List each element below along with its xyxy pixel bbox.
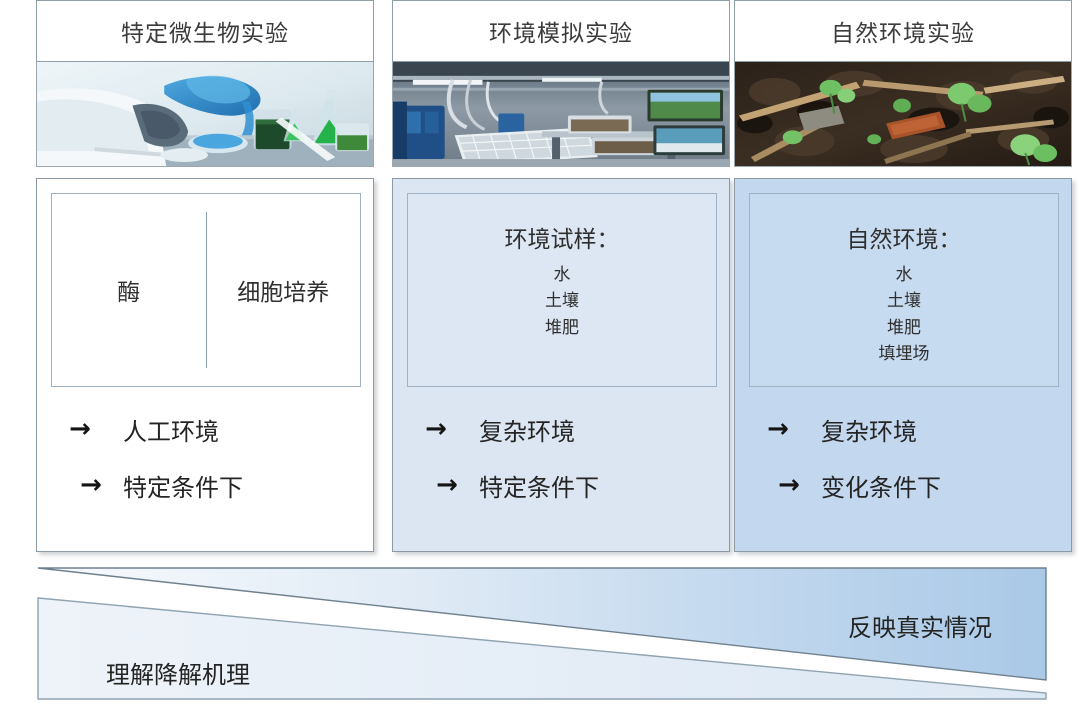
column-header-box: 特定微生物实验 [36, 0, 374, 62]
arrow-label: 变化条件下 [821, 468, 941, 503]
column-title: 特定微生物实验 [121, 14, 289, 48]
arrow-right-icon: → [393, 470, 479, 500]
slide-canvas: 特定微生物实验 [0, 0, 1080, 709]
banner-left-label: 理解降解机理 [106, 655, 250, 690]
arrow-right-icon: → [37, 470, 123, 500]
sample-list-item: 堆肥 [408, 315, 716, 341]
arrow-row: → 人工环境 [37, 401, 373, 457]
arrow-label: 复杂环境 [479, 412, 575, 447]
panel-natural-environment: 自然环境： 水 土壤 堆肥 填埋场 → 复杂环境 → 变化条件下 [734, 178, 1072, 552]
column-header-box: 环境模拟实验 [392, 0, 730, 62]
column-environment-simulation: 环境模拟实验 [392, 0, 730, 167]
sample-list-item: 水 [750, 262, 1058, 288]
arrow-label: 复杂环境 [821, 412, 917, 447]
column-specific-microbial: 特定微生物实验 [36, 0, 374, 167]
panel-specific-microbial: 酶 细胞培养 → 人工环境 → 特定条件下 [36, 178, 374, 552]
column-header-box: 自然环境实验 [734, 0, 1072, 62]
gradient-banner: 反映真实情况 理解降解机理 [36, 562, 1048, 702]
inner-box-environment-samples: 环境试样： 水 土壤 堆肥 [407, 193, 717, 387]
arrow-label: 特定条件下 [479, 468, 599, 503]
sample-list-item: 水 [408, 262, 716, 288]
arrow-row: → 复杂环境 [393, 401, 729, 457]
indoor-simulation-tanks-photo [392, 62, 730, 167]
arrow-label: 特定条件下 [123, 468, 243, 503]
column-title: 环境模拟实验 [489, 14, 633, 48]
arrow-list: → 人工环境 → 特定条件下 [37, 401, 373, 513]
arrow-row: → 特定条件下 [37, 457, 373, 513]
arrow-right-icon: → [393, 414, 479, 444]
arrow-right-icon: → [37, 414, 123, 444]
inner-box-enzyme-cellculture: 酶 细胞培养 [51, 193, 361, 387]
arrow-row: → 变化条件下 [735, 457, 1071, 513]
sample-list-item: 土壤 [750, 288, 1058, 314]
sample-list-item: 土壤 [408, 288, 716, 314]
banner-right-label: 反映真实情况 [848, 608, 992, 643]
arrow-list: → 复杂环境 → 特定条件下 [393, 401, 729, 513]
arrow-right-icon: → [735, 470, 821, 500]
arrow-label: 人工环境 [123, 412, 219, 447]
inner-box-natural-samples: 自然环境： 水 土壤 堆肥 填埋场 [749, 193, 1059, 387]
panel-environment-simulation: 环境试样： 水 土壤 堆肥 → 复杂环境 → 特定条件下 [392, 178, 730, 552]
sample-list-heading: 自然环境： [750, 220, 1058, 254]
arrow-row: → 特定条件下 [393, 457, 729, 513]
arrow-list: → 复杂环境 → 变化条件下 [735, 401, 1071, 513]
sample-list-heading: 环境试样： [408, 220, 716, 254]
arrow-right-icon: → [735, 414, 821, 444]
split-left-label: 酶 [52, 273, 206, 307]
lab-gloved-hand-flasks-photo [36, 62, 374, 167]
sample-list-item: 填埋场 [750, 341, 1058, 367]
split-right-label: 细胞培养 [207, 273, 361, 307]
arrow-row: → 复杂环境 [735, 401, 1071, 457]
soil-seedlings-litter-photo [734, 62, 1072, 167]
sample-list-item: 堆肥 [750, 315, 1058, 341]
column-title: 自然环境实验 [831, 14, 975, 48]
column-natural-environment: 自然环境实验 [734, 0, 1072, 167]
